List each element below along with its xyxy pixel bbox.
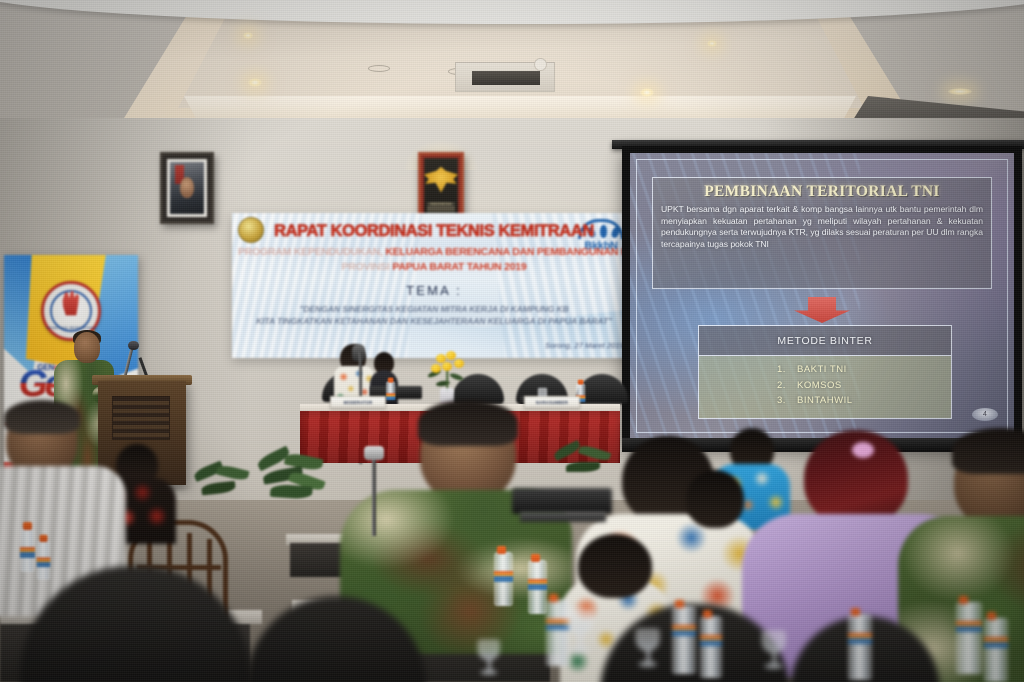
plant-frond (270, 484, 313, 500)
person-hair (4, 400, 80, 434)
slide-body-text: UPKT bersama dgn aparat terkait & komp b… (661, 204, 983, 250)
garuda-bird-icon (424, 167, 458, 193)
event-backdrop-banner: BkkbN RAPAT KOORDINASI TEKNIS KEMITRAAN … (232, 213, 636, 358)
downlight (707, 40, 717, 47)
glass-cup (762, 631, 785, 653)
slide-top-textbox: PEMBINAAN TERITORIAL TNI UPKT bersama dg… (652, 177, 992, 289)
banner-subtitle-line1-faded: PROGRAM KEPENDUDUKAN, (238, 246, 385, 258)
drinking-glass (636, 629, 659, 668)
podium-mic-head (128, 341, 139, 350)
slide-method-item-label: KOMSOS (797, 380, 842, 391)
slide-method-item-num: 3. (777, 393, 797, 409)
water-bottle (984, 618, 1008, 682)
slide-method-box-title: METODE BINTER (699, 326, 951, 356)
banner-theme-line2: KITA TINGKATKAN KETAHANAN DAN KESEJAHTER… (236, 316, 632, 326)
drinking-glass (478, 640, 500, 676)
plant-frond (216, 464, 250, 482)
drinking-glass (566, 609, 593, 654)
water-bottle (20, 528, 35, 572)
glass-stem (578, 633, 582, 647)
glass-foot (765, 664, 783, 669)
water-bottle (672, 606, 696, 674)
av-equipment-base (520, 512, 606, 522)
portrait-mat (167, 159, 207, 217)
conference-room-photo: INDONESIA BkkbN RAPAT KOORDINASI TEKNIS … (0, 0, 1024, 682)
glass-cup (478, 640, 500, 660)
downlight (640, 88, 654, 97)
slide-method-item-num: 2. (777, 378, 797, 394)
glass-foot (569, 647, 590, 653)
water-bottle (528, 560, 547, 614)
flower-bloom (446, 351, 456, 360)
slide-method-list: 1.BAKTI TNI 2.KOMSOS 3.BINTAHWIL (699, 356, 951, 418)
audience-person (686, 470, 746, 540)
glass-foot (639, 662, 657, 667)
speaker-head (74, 332, 100, 363)
slide-method-box: METODE BINTER 1.BAKTI TNI 2.KOMSOS 3.BIN… (698, 325, 952, 419)
glass-stem (646, 650, 649, 662)
banner-title: RAPAT KOORDINASI TEKNIS KEMITRAAN (244, 222, 624, 241)
banner-subtitle-line2-faded: PROVINSI (342, 261, 393, 273)
camera-device (364, 446, 384, 460)
downlight (248, 78, 262, 87)
plant-frond (201, 481, 236, 495)
hair-tie (852, 442, 874, 458)
flower-bloom (442, 362, 452, 371)
projector-screen: PEMBINAAN TERITORIAL TNI UPKT bersama dg… (622, 146, 1022, 446)
downlight (948, 88, 972, 95)
slide-method-item-label: BINTAHWIL (797, 395, 853, 406)
garuda-poster-inner: INDONESIA (424, 158, 458, 220)
leaf (449, 372, 464, 381)
glass-cup (566, 609, 593, 635)
flower-bloom (454, 359, 464, 368)
mic-stand-pole (372, 456, 376, 536)
slide-heading: PEMBINAAN TERITORIAL TNI (661, 183, 983, 201)
slide-method-item: 1.BAKTI TNI (699, 362, 951, 378)
banner-subtitle-line1-main: KELUARGA BERENCANA DAN PEMBANGUNAN KELUA… (385, 246, 636, 258)
av-equipment-box (512, 488, 612, 514)
banner-subtitle-line1: PROGRAM KEPENDUDUKAN, KELUARGA BERENCANA… (238, 246, 630, 258)
banner-date-place: Sorong, 27 Maret 2019 (545, 341, 624, 350)
water-bottle (700, 616, 722, 678)
slide-page-number: 4 (972, 408, 998, 421)
glass-stem (772, 652, 775, 664)
framed-official-portrait (160, 152, 214, 224)
glass-stem (488, 659, 491, 670)
smoke-detector-icon (534, 58, 547, 71)
person-head (578, 534, 652, 598)
banner-subtitle-line2: PROVINSI PAPUA BARAT TAHUN 2019 (238, 261, 630, 273)
person-head (686, 470, 744, 528)
chair-cushion (20, 566, 250, 682)
glass-cup (636, 629, 659, 651)
slide-method-item: 2.KOMSOS (699, 378, 951, 394)
ceiling-fixture-ring (368, 65, 390, 72)
chair-cushion (246, 596, 426, 682)
downlight (243, 32, 253, 39)
drinking-glass (762, 631, 785, 670)
water-bottle (494, 552, 513, 606)
water-bottle (848, 614, 872, 680)
banner-subtitle-line2-main: PAPUA BARAT TAHUN 2019 (392, 261, 526, 273)
podium-front-panel (112, 396, 170, 440)
portrait-image (170, 162, 204, 214)
banner-tema-label: TEMA : (406, 283, 462, 298)
slide-method-item-num: 1. (777, 362, 797, 378)
audience-chair-back (20, 566, 250, 682)
flower-bloom (431, 364, 441, 373)
glass-foot (480, 670, 497, 675)
water-bottle (956, 602, 982, 674)
water-bottle (386, 381, 395, 400)
slide-method-item-label: BAKTI TNI (797, 364, 847, 375)
presentation-slide: PEMBINAAN TERITORIAL TNI UPKT bersama dg… (630, 153, 1014, 439)
banner-content: BkkbN RAPAT KOORDINASI TEKNIS KEMITRAAN … (232, 213, 636, 358)
audience-chair-back (246, 596, 426, 682)
person-hair (418, 400, 518, 446)
leaf (436, 380, 451, 387)
slide-method-item: 3.BINTAHWIL (699, 393, 951, 409)
water-bottle (37, 540, 51, 580)
banner-theme-line1: "DENGAN SINERGITAS KEGIATAN MITRA KERJA … (236, 304, 632, 314)
